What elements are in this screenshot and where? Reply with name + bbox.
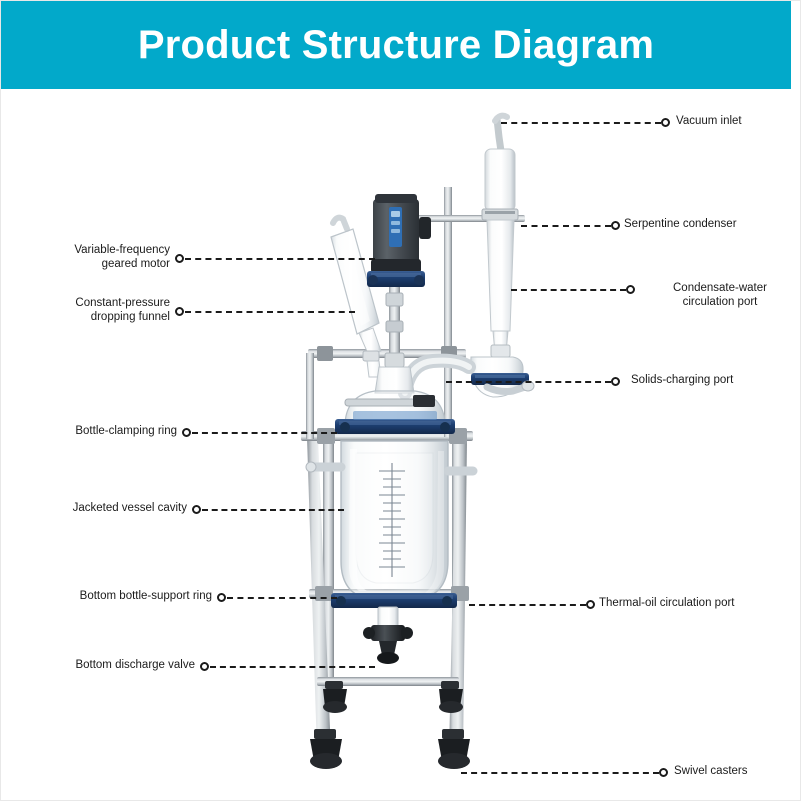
callout-swivel-casters: Swivel casters <box>674 765 794 779</box>
callout-geared-motor: Variable-frequency geared motor <box>25 244 170 271</box>
leader-geared-motor <box>185 258 375 260</box>
leader-serpentine-condenser <box>521 225 611 227</box>
leader-jacketed-vessel-cavity <box>202 509 344 511</box>
leader-condensate-water-port <box>511 289 626 291</box>
marker-dropping-funnel <box>175 307 184 316</box>
marker-jacketed-vessel-cavity <box>192 505 201 514</box>
swivel-casters <box>310 681 470 769</box>
callout-serpentine-condenser: Serpentine condenser <box>624 218 799 232</box>
marker-vacuum-inlet <box>661 118 670 127</box>
vapor-elbow-pipe <box>405 361 469 393</box>
leader-bottom-support-ring <box>227 597 337 599</box>
marker-geared-motor <box>175 254 184 263</box>
leader-bottle-clamping-ring <box>192 432 337 434</box>
leader-bottom-discharge-valve <box>210 666 375 668</box>
callout-vacuum-inlet: Vacuum inlet <box>676 115 796 129</box>
header-banner: Product Structure Diagram <box>1 1 791 89</box>
leader-vacuum-inlet <box>501 122 661 124</box>
callout-bottom-support-ring: Bottom bottle-support ring <box>21 590 212 604</box>
support-frame <box>301 187 525 753</box>
callout-dropping-funnel: Constant-pressure dropping funnel <box>25 297 170 324</box>
leader-solids-charging-port <box>446 381 611 383</box>
geared-motor-assembly <box>367 194 431 367</box>
product-structure-diagram-page: Product Structure Diagram <box>0 0 801 801</box>
marker-swivel-casters <box>659 768 668 777</box>
serpentine-condenser-glassware <box>471 116 534 397</box>
bottom-discharge-valve <box>363 607 413 664</box>
callout-jacketed-vessel-cavity: Jacketed vessel cavity <box>25 502 187 516</box>
page-title: Product Structure Diagram <box>1 1 791 89</box>
jacketed-vessel <box>306 441 473 599</box>
callout-bottom-discharge-valve: Bottom discharge valve <box>25 659 195 673</box>
callout-thermal-oil-port: Thermal-oil circulation port <box>599 597 799 611</box>
marker-solids-charging-port <box>611 377 620 386</box>
callout-bottle-clamping-ring: Bottle-clamping ring <box>25 425 177 439</box>
marker-condensate-water-port <box>626 285 635 294</box>
bottom-support-ring <box>331 593 457 608</box>
leader-swivel-casters <box>461 772 659 774</box>
marker-bottom-discharge-valve <box>200 662 209 671</box>
marker-bottom-support-ring <box>217 593 226 602</box>
graduation-marks <box>379 463 405 577</box>
leader-dropping-funnel <box>185 311 355 313</box>
leader-thermal-oil-port <box>469 604 586 606</box>
marker-serpentine-condenser <box>611 221 620 230</box>
marker-bottle-clamping-ring <box>182 428 191 437</box>
callout-solids-charging-port: Solids-charging port <box>631 374 796 388</box>
reactor-lid-assembly <box>335 367 455 434</box>
dropping-funnel-glassware <box>331 218 381 377</box>
marker-thermal-oil-port <box>586 600 595 609</box>
callout-condensate-water-port: Condensate-water circulation port <box>641 282 799 309</box>
